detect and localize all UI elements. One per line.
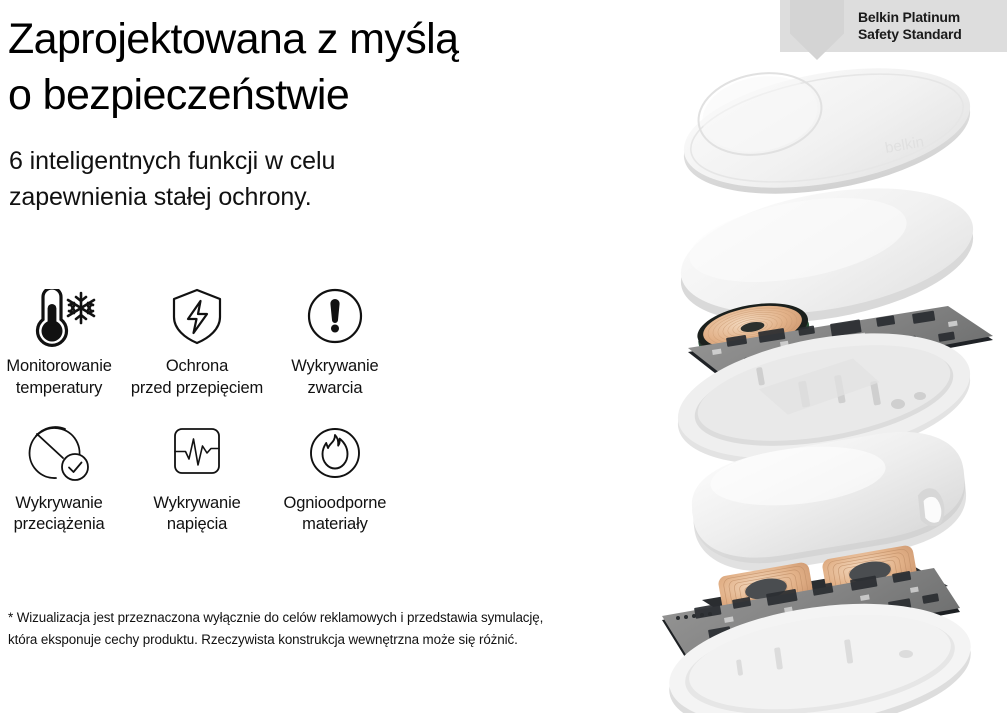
page-title: Zaprojektowana z myślą o bezpieczeństwie — [8, 12, 628, 124]
feature-label: Monitorowanie temperatury — [6, 356, 111, 400]
left-content-column: Zaprojektowana z myślą o bezpieczeństwie… — [0, 0, 640, 713]
feature-label: Wykrywanie napięcia — [153, 493, 240, 537]
feature-item-fire-resistant-materials: Ognioodporne materiały — [270, 422, 400, 537]
gauge-check-icon — [23, 422, 95, 484]
feature-item-short-circuit-detection: Wykrywanie zwarcia — [270, 285, 400, 400]
flame-circle-icon — [304, 422, 366, 484]
feature-label: Ochrona przed przepięciem — [131, 356, 263, 400]
shield-bolt-icon — [166, 285, 228, 347]
feature-item-overload-detection: Wykrywanie przeciążenia — [0, 422, 124, 537]
thermometer-snowflake-icon — [13, 285, 105, 347]
page-subheading: 6 inteligentnych funkcji w celu zapewnie… — [9, 144, 449, 215]
feature-label: Ognioodporne materiały — [284, 493, 387, 537]
product-exploded-view: belkin — [648, 52, 1007, 713]
promo-page: Zaprojektowana z myślą o bezpieczeństwie… — [0, 0, 1007, 713]
waveform-square-icon — [166, 422, 228, 484]
disclaimer-footnote: * Wizualizacja jest przeznaczona wyłączn… — [8, 607, 648, 650]
feature-label: Wykrywanie przeciążenia — [14, 493, 105, 537]
feature-row-1: Monitorowanie temperatury Ochrona przed … — [0, 285, 400, 400]
safety-features-grid: Monitorowanie temperatury Ochrona przed … — [0, 285, 400, 536]
feature-item-temperature-monitoring: Monitorowanie temperatury — [0, 285, 124, 400]
exclamation-circle-icon — [304, 285, 366, 347]
feature-item-voltage-detection: Wykrywanie napięcia — [124, 422, 270, 537]
feature-row-2: Wykrywanie przeciążenia Wykrywanie napię… — [0, 422, 400, 537]
safety-standard-badge: Belkin Platinum Safety Standard — [780, 0, 1007, 52]
feature-item-surge-protection: Ochrona przed przepięciem — [124, 285, 270, 400]
badge-label: Belkin Platinum Safety Standard — [858, 9, 962, 43]
top-cover-plate: belkin — [675, 52, 980, 213]
feature-label: Wykrywanie zwarcia — [291, 356, 378, 400]
